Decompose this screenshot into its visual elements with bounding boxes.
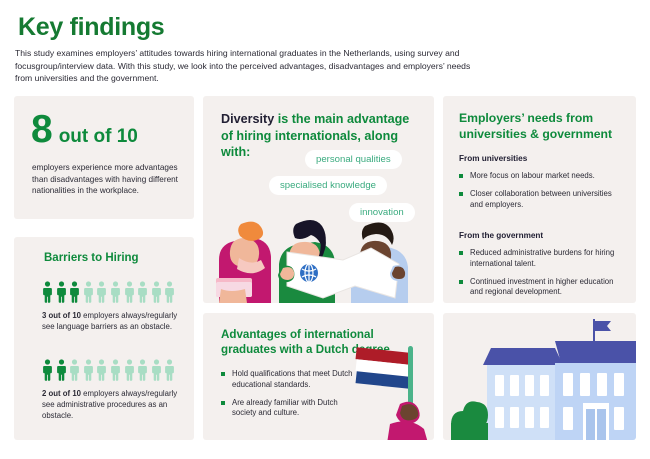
- stat-description: employers experience more advantages tha…: [32, 162, 182, 197]
- page-title: Key findings: [18, 13, 164, 42]
- needs-heading: Employers’ needs from universities & gov…: [459, 111, 631, 142]
- dutch-flag-illustration: [338, 340, 434, 440]
- person-icon-filled: [42, 359, 53, 381]
- list-item: Are already familiar with Dutch society …: [221, 398, 356, 420]
- needs-government-list: Reduced administrative burdens for hirin…: [459, 248, 624, 305]
- person-icon-empty: [151, 281, 162, 303]
- stat-panel: 8 out of 10 employers experience more ad…: [14, 96, 194, 219]
- needs-universities-list: More focus on labour market needs. Close…: [459, 171, 619, 217]
- person-icon-empty: [124, 281, 135, 303]
- person-icon-empty: [124, 359, 135, 381]
- person-icon-empty: [110, 359, 121, 381]
- person-icon-empty: [164, 359, 175, 381]
- advantages-bullet-list: Hold qualifications that meet Dutch educ…: [221, 369, 356, 426]
- pictogram-caption-language: 3 out of 10 employers always/regularly s…: [42, 310, 190, 332]
- needs-panel: Employers’ needs from universities & gov…: [443, 96, 636, 303]
- list-item: Reduced administrative burdens for hirin…: [459, 248, 624, 270]
- needs-subheading-universities: From universities: [459, 154, 527, 163]
- needs-subheading-government: From the government: [459, 231, 543, 240]
- list-item: Continued investment in higher education…: [459, 277, 624, 299]
- person-icon-filled: [69, 281, 80, 303]
- barriers-heading: Barriers to Hiring: [44, 252, 139, 264]
- barriers-panel: Barriers to Hiring 3 out of 10 employers…: [14, 237, 194, 440]
- tag-innovation: innovation: [349, 203, 415, 222]
- stat-headline: 8 out of 10: [31, 110, 138, 149]
- person-icon-empty: [137, 281, 148, 303]
- person-icon-empty: [164, 281, 175, 303]
- list-item: More focus on labour market needs.: [459, 171, 619, 182]
- pictogram-language-barriers: [42, 281, 175, 303]
- advantages-panel: Advantages of international graduates wi…: [203, 313, 434, 440]
- person-icon-empty: [151, 359, 162, 381]
- tag-personal-qualities: personal qualities: [305, 150, 402, 169]
- person-icon-empty: [110, 281, 121, 303]
- person-icon-empty: [96, 281, 107, 303]
- institution-building-illustration: [443, 313, 636, 440]
- intro-paragraph: This study examines employers’ attitudes…: [15, 47, 485, 85]
- infographic-page: Key findings This study examines employe…: [0, 0, 650, 459]
- pictogram-caption-admin: 2 out of 10 employers always/regularly s…: [42, 388, 190, 421]
- list-item: Hold qualifications that meet Dutch educ…: [221, 369, 356, 391]
- person-icon-empty: [96, 359, 107, 381]
- person-icon-empty: [137, 359, 148, 381]
- diversity-heading-strong: Diversity: [221, 112, 274, 126]
- person-icon-filled: [56, 359, 67, 381]
- person-icon-empty: [83, 359, 94, 381]
- stat-suffix: out of 10: [59, 126, 138, 148]
- pictogram-lead-language: 3 out of 10: [42, 311, 81, 320]
- list-item: Closer collaboration between universitie…: [459, 189, 619, 211]
- person-icon-filled: [42, 281, 53, 303]
- person-icon-empty: [69, 359, 80, 381]
- stat-number: 8: [31, 110, 53, 149]
- pictogram-admin-procedures: [42, 359, 175, 381]
- building-panel: [443, 313, 636, 440]
- pictogram-lead-admin: 2 out of 10: [42, 389, 81, 398]
- diversity-panel: Diversity is the main advantage of hirin…: [203, 96, 434, 303]
- tag-specialised-knowledge: specialised knowledge: [269, 176, 387, 195]
- person-icon-filled: [56, 281, 67, 303]
- person-icon-empty: [83, 281, 94, 303]
